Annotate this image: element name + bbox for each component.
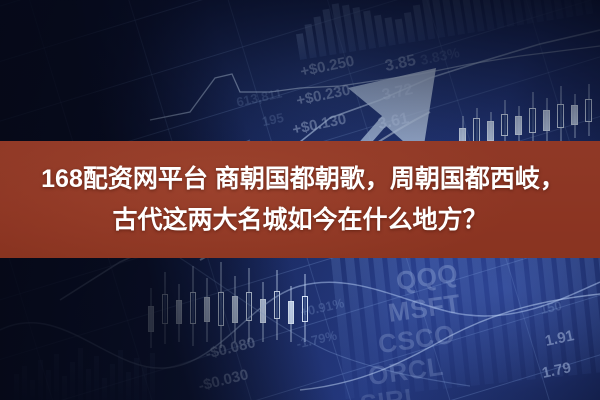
title-line-2: 古代这两大名城如今在什么地方？	[0, 200, 600, 241]
title-band: 168配资网平台 商朝国都朝歌，周朝国都西岐， 古代这两大名城如今在什么地方？	[0, 141, 600, 258]
title-line-1: 168配资网平台 商朝国都朝歌，周朝国都西岐，	[0, 159, 600, 200]
page-title: 168配资网平台 商朝国都朝歌，周朝国都西岐， 古代这两大名城如今在什么地方？	[0, 159, 600, 241]
article-banner: +$0.250 3.85 +$0.230 3.72 +$0.130 3.61 -…	[0, 0, 600, 400]
